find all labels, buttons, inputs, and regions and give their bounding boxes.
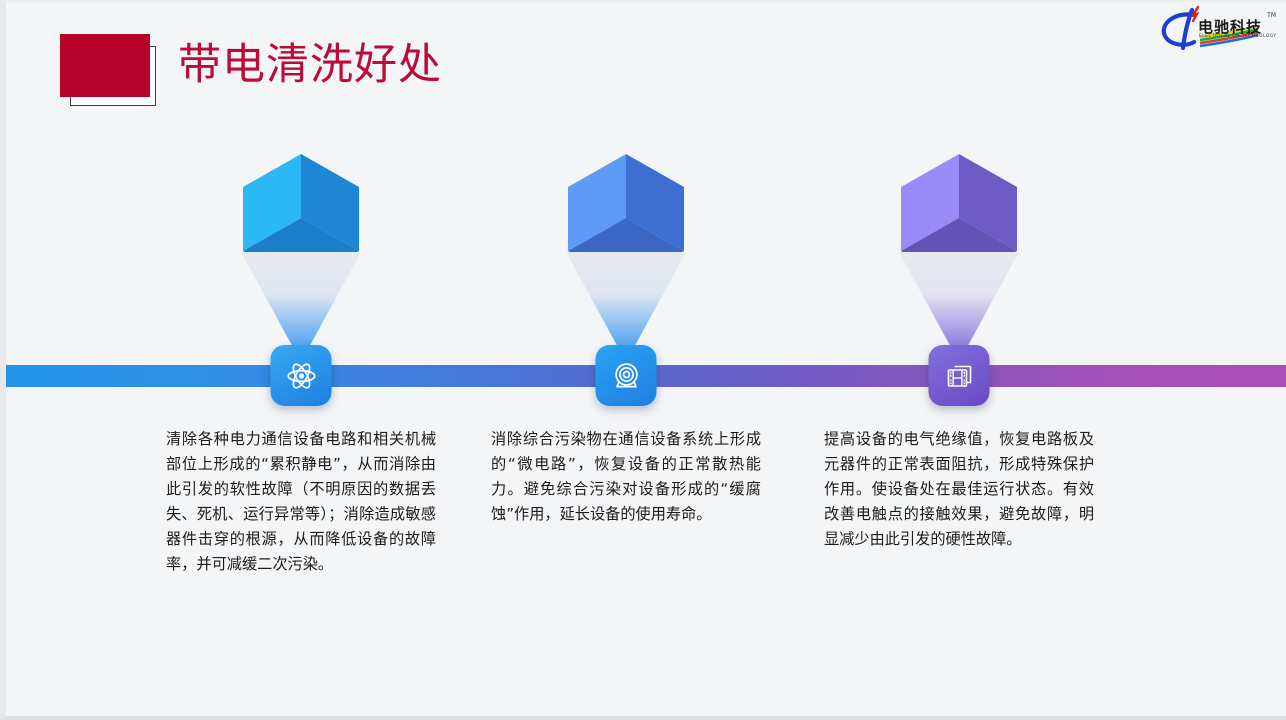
- benefit-badge-2[interactable]: [596, 345, 657, 406]
- logo-name-en: ELECTRICAL ON TECHNOLOGY: [1199, 33, 1277, 38]
- benefit-text-2: 消除综合污染物在通信设备系统上形成的“微电路”，恢复设备的正常散热能力。避免综合…: [491, 427, 761, 527]
- logo-trademark: TM: [1267, 12, 1276, 19]
- slide-canvas: 带电清洗好处 电驰科技 ELECTRICAL ON TECHNOLOGY TM: [0, 0, 1286, 720]
- benefit-badge-3[interactable]: [929, 345, 990, 406]
- benefit-text-1: 清除各种电力通信设备电路和相关机械部位上形成的“累积静电”，从而消除由此引发的软…: [166, 427, 436, 577]
- company-logo: 电驰科技 ELECTRICAL ON TECHNOLOGY TM: [1154, 4, 1278, 52]
- benefit-column-1: 清除各种电力通信设备电路和相关机械部位上形成的“累积静电”，从而消除由此引发的软…: [131, 2, 471, 720]
- benefit-badge-1[interactable]: [271, 345, 332, 406]
- benefit-column-2: 消除综合污染物在通信设备系统上形成的“微电路”，恢复设备的正常散热能力。避免综合…: [456, 2, 796, 720]
- benefit-column-3: 提高设备的电气绝缘值，恢复电路板及元器件的正常表面阻抗，形成特殊保护作用。使设备…: [789, 2, 1129, 720]
- atom-icon: [285, 360, 317, 392]
- film-strip-icon: [943, 360, 975, 392]
- target-fan-icon: [610, 360, 642, 392]
- benefit-text-3: 提高设备的电气绝缘值，恢复电路板及元器件的正常表面阻抗，形成特殊保护作用。使设备…: [824, 427, 1094, 552]
